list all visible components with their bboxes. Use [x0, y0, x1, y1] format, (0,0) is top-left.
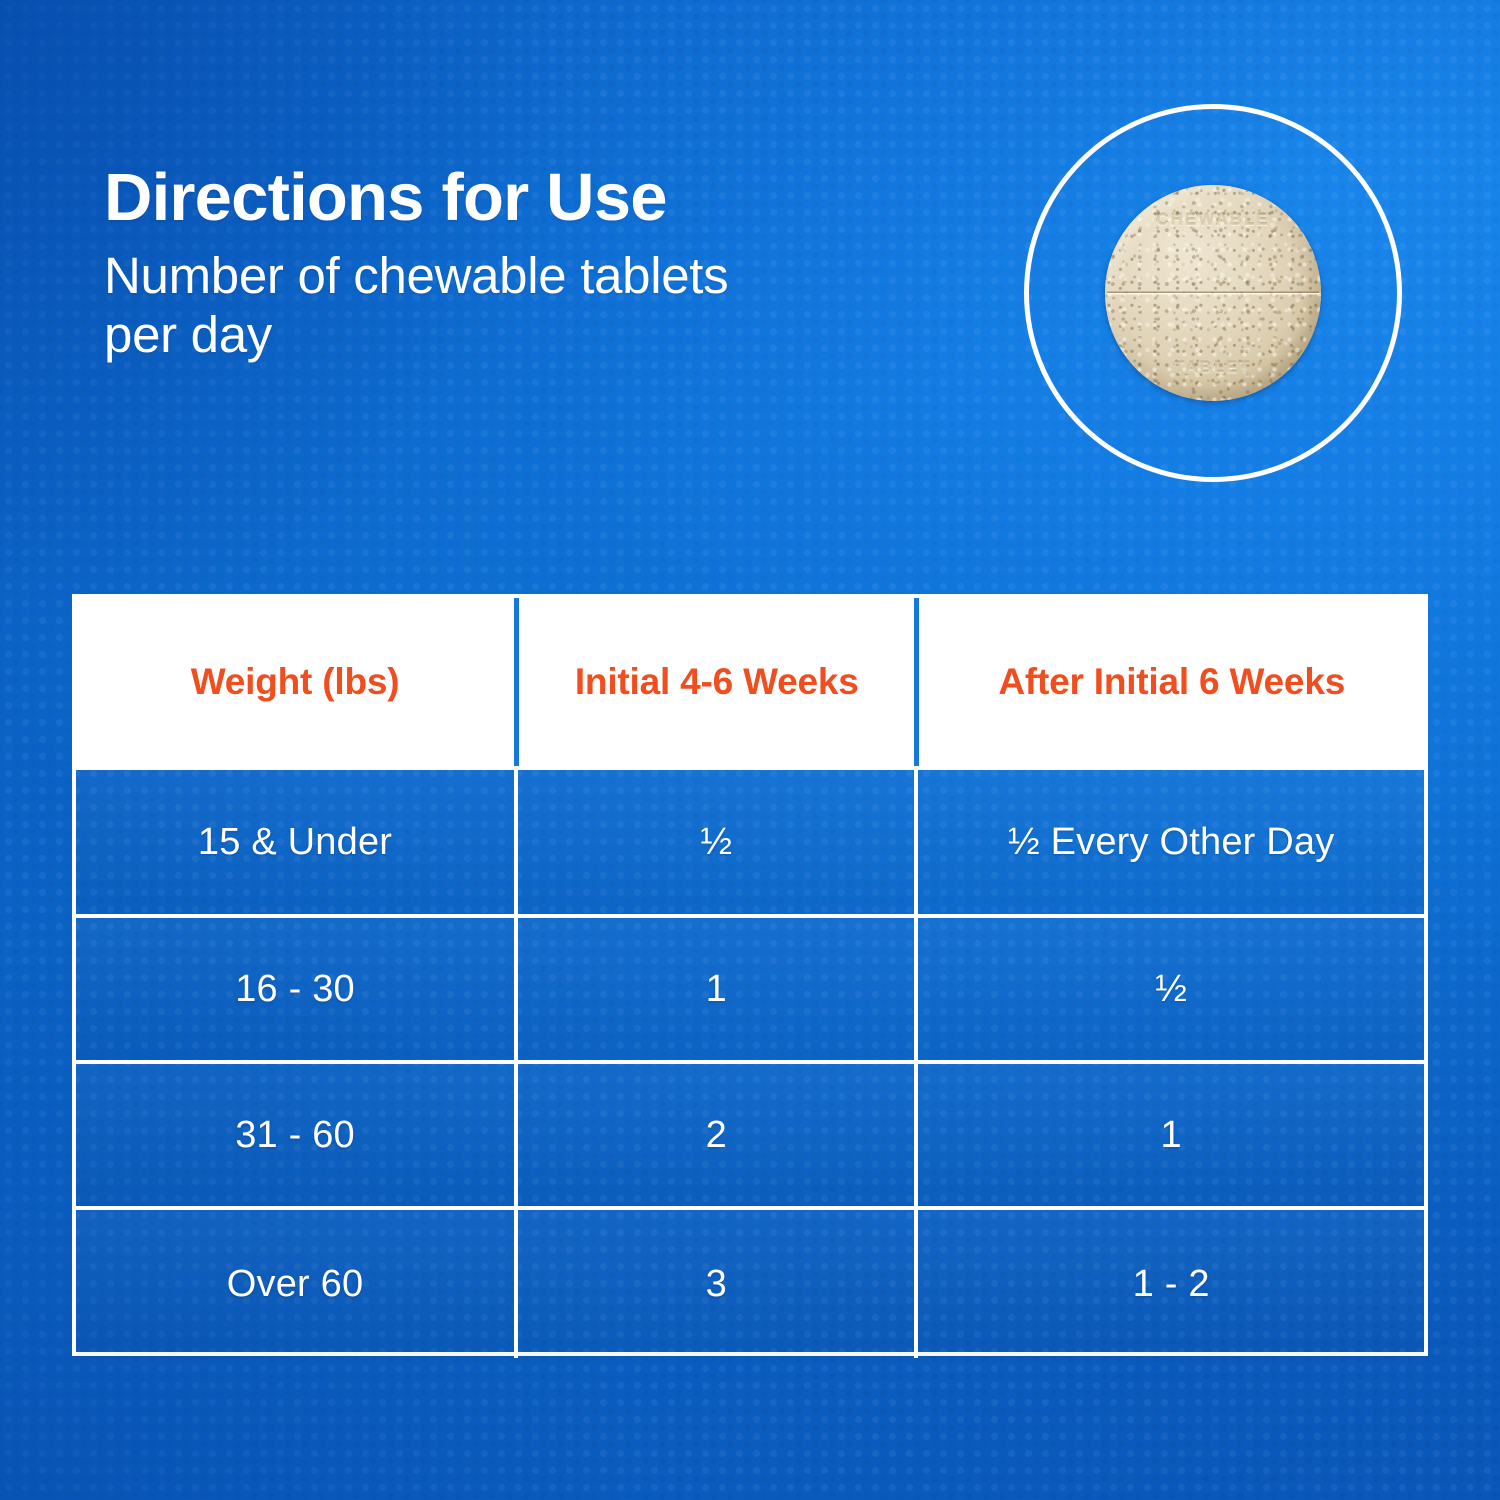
table-row: Over 60 3 1 - 2	[76, 1206, 1424, 1358]
cell-initial-dose: 3	[514, 1210, 914, 1358]
tablet-badge-circle: CHEWABLE TABLET	[1024, 104, 1402, 482]
dosage-table: Weight (lbs) Initial 4-6 Weeks After Ini…	[72, 594, 1428, 1356]
table-row: 31 - 60 2 1	[76, 1060, 1424, 1206]
tablet-emboss-top-text: CHEWABLE	[1105, 197, 1321, 243]
header-block: Directions for Use Number of chewable ta…	[104, 162, 934, 364]
column-header-initial-weeks: Initial 4-6 Weeks	[514, 598, 914, 766]
table-row: 16 - 30 1 ½	[76, 914, 1424, 1060]
cell-weight: 31 - 60	[76, 1064, 514, 1206]
cell-initial-dose: 1	[514, 918, 914, 1060]
column-header-weight: Weight (lbs)	[76, 598, 514, 766]
page-title: Directions for Use	[104, 162, 934, 233]
cell-after-initial-dose: ½	[914, 918, 1424, 1060]
table-row: 15 & Under ½ ½ Every Other Day	[76, 766, 1424, 914]
cell-initial-dose: 2	[514, 1064, 914, 1206]
table-header-row: Weight (lbs) Initial 4-6 Weeks After Ini…	[76, 598, 1424, 766]
cell-weight: 15 & Under	[76, 770, 514, 914]
tablet-emboss-bottom-text: TABLET	[1105, 347, 1321, 388]
cell-after-initial-dose: ½ Every Other Day	[914, 770, 1424, 914]
column-header-after-initial-weeks: After Initial 6 Weeks	[914, 598, 1424, 766]
page-subtitle: Number of chewable tablets per day	[104, 247, 804, 364]
cell-after-initial-dose: 1	[914, 1064, 1424, 1206]
chewable-tablet-photo: CHEWABLE TABLET	[1105, 185, 1321, 401]
cell-after-initial-dose: 1 - 2	[914, 1210, 1424, 1358]
cell-weight: Over 60	[76, 1210, 514, 1358]
tablet-score-line	[1107, 292, 1319, 295]
cell-initial-dose: ½	[514, 770, 914, 914]
cell-weight: 16 - 30	[76, 918, 514, 1060]
